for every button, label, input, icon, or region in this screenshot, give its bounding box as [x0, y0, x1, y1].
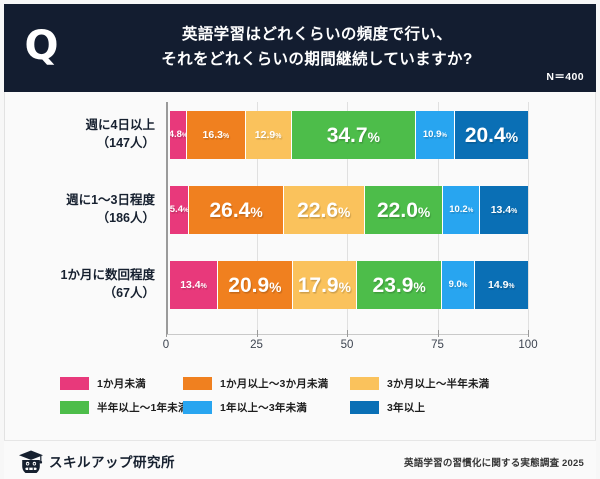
graduation-cap-icon [18, 449, 44, 473]
bar-segment-value: 9.0% [449, 280, 468, 290]
row-label-main: 週に1〜3日程度 [66, 192, 155, 210]
bar-segment-value: 10.2% [449, 205, 473, 215]
bar-segment[interactable]: 34.7% [292, 111, 416, 159]
stacked-bar: 13.4%20.9%17.9%23.9%9.0%14.9% [170, 261, 528, 309]
bar-segment-value: 5.4% [170, 205, 189, 215]
bar-segment-value: 23.9% [373, 275, 426, 296]
sample-size-label: N＝400 [546, 69, 584, 84]
legend-label: 1年以上〜3年未満 [220, 400, 307, 415]
bar-segment[interactable]: 12.9% [246, 111, 292, 159]
bar-segment-value: 34.7% [327, 125, 380, 146]
legend-item[interactable]: 3年以上 [350, 400, 425, 415]
bar-segment[interactable]: 13.4% [170, 261, 218, 309]
row-label-3: 1か月に数回程度（67人） [5, 261, 155, 309]
bar-segment-value: 14.9% [488, 280, 515, 291]
bar-segment[interactable]: 10.2% [443, 186, 480, 234]
bar-segment[interactable]: 10.9% [416, 111, 455, 159]
legend-label: 半年以上〜1年未満 [97, 400, 189, 415]
bar-segment[interactable]: 26.4% [189, 186, 284, 234]
legend-item[interactable]: 半年以上〜1年未満 [60, 400, 189, 415]
bar-segment-value: 17.9% [298, 275, 351, 296]
legend-swatch [183, 377, 212, 390]
stacked-bar-chart: 0255075100 週に4日以上（147人）4.8%16.3%12.9%34.… [5, 92, 597, 342]
stacked-bar: 4.8%16.3%12.9%34.7%10.9%20.4% [170, 111, 528, 159]
bar-segment[interactable]: 16.3% [187, 111, 245, 159]
row-label-1: 週に4日以上（147人） [5, 111, 155, 159]
bar-segment-value: 20.4% [465, 125, 518, 146]
x-tick-label-75: 75 [431, 339, 444, 351]
bar-segment[interactable]: 22.6% [284, 186, 365, 234]
bar-segment-value: 13.4% [180, 280, 207, 291]
row-label-main: 1か月に数回程度 [61, 267, 155, 285]
bar-segment-value: 10.9% [423, 130, 447, 140]
page-footer: スキルアップ研究所 英語学習の習慣化に関する実態調査 2025 [4, 440, 596, 479]
bar-segment[interactable]: 14.9% [475, 261, 528, 309]
stacked-bar: 5.4%26.4%22.6%22.0%10.2%13.4% [170, 186, 528, 234]
page-title-line-2: それをどれくらいの期間継続していますか? [78, 47, 556, 72]
row-label-main: 週に4日以上 [86, 117, 155, 135]
brand-name: スキルアップ研究所 [49, 451, 175, 471]
brand-logo: スキルアップ研究所 [18, 449, 175, 473]
bar-segment[interactable]: 23.9% [357, 261, 443, 309]
bar-segment-value: 22.0% [377, 200, 430, 221]
legend-item[interactable]: 1か月以上〜3か月未満 [183, 376, 328, 391]
legend-label: 1か月以上〜3か月未満 [220, 376, 328, 391]
legend-item[interactable]: 1か月未満 [60, 376, 146, 391]
chart-page: Q 英語学習はどれくらいの頻度で行い、 それをどれくらいの期間継続していますか?… [0, 0, 600, 479]
legend-label: 3年以上 [387, 400, 425, 415]
bar-segment[interactable]: 17.9% [293, 261, 357, 309]
chart-legend: 1か月未満1か月以上〜3か月未満3か月以上〜半年未満半年以上〜1年未満1年以上〜… [5, 354, 597, 424]
bar-segment-value: 26.4% [209, 200, 262, 221]
bar-segment-value: 22.6% [297, 200, 350, 221]
x-tick-0 [166, 330, 167, 337]
bar-segment-value: 12.9% [255, 130, 282, 141]
chart-row: 週に4日以上（147人）4.8%16.3%12.9%34.7%10.9%20.4… [5, 111, 597, 159]
bar-segment-value: 13.4% [491, 205, 518, 216]
chart-body: 0255075100 週に4日以上（147人）4.8%16.3%12.9%34.… [4, 92, 596, 440]
row-label-2: 週に1〜3日程度（186人） [5, 186, 155, 234]
x-tick-50 [347, 330, 348, 337]
row-label-count: （67人） [104, 285, 155, 303]
question-header: Q 英語学習はどれくらいの頻度で行い、 それをどれくらいの期間継続していますか?… [4, 4, 596, 92]
x-tick-label-100: 100 [518, 339, 537, 351]
bar-segment[interactable]: 20.9% [218, 261, 293, 309]
bar-segment[interactable]: 5.4% [170, 186, 189, 234]
x-tick-25 [257, 330, 258, 337]
row-label-count: （186人） [97, 210, 155, 228]
chart-row: 週に1〜3日程度（186人）5.4%26.4%22.6%22.0%10.2%13… [5, 186, 597, 234]
bar-segment[interactable]: 22.0% [365, 186, 444, 234]
bar-segment[interactable]: 13.4% [480, 186, 528, 234]
page-title-line-1: 英語学習はどれくらいの頻度で行い、 [78, 22, 556, 47]
legend-item[interactable]: 1年以上〜3年未満 [183, 400, 307, 415]
bar-segment[interactable]: 9.0% [442, 261, 474, 309]
page-title: 英語学習はどれくらいの頻度で行い、 それをどれくらいの期間継続していますか? [78, 22, 596, 74]
legend-swatch [183, 401, 212, 414]
x-tick-100 [528, 330, 529, 337]
x-tick-75 [438, 330, 439, 337]
chart-row: 1か月に数回程度（67人）13.4%20.9%17.9%23.9%9.0%14.… [5, 261, 597, 309]
legend-swatch [350, 401, 379, 414]
row-label-count: （147人） [97, 135, 155, 153]
bar-segment-value: 4.8% [170, 130, 187, 140]
x-tick-label-0: 0 [163, 339, 169, 351]
question-mark-icon: Q [4, 26, 78, 70]
x-tick-label-50: 50 [341, 339, 354, 351]
legend-swatch [60, 401, 89, 414]
survey-note: 英語学習の習慣化に関する実態調査 2025 [404, 455, 584, 469]
legend-label: 1か月未満 [97, 376, 146, 391]
legend-item[interactable]: 3か月以上〜半年未満 [350, 376, 489, 391]
bar-segment-value: 20.9% [228, 275, 281, 296]
legend-swatch [350, 377, 379, 390]
legend-label: 3か月以上〜半年未満 [387, 376, 489, 391]
bar-segment[interactable]: 4.8% [170, 111, 187, 159]
legend-swatch [60, 377, 89, 390]
bar-segment-value: 16.3% [203, 130, 230, 141]
bar-segment[interactable]: 20.4% [455, 111, 528, 159]
x-tick-label-25: 25 [250, 339, 263, 351]
